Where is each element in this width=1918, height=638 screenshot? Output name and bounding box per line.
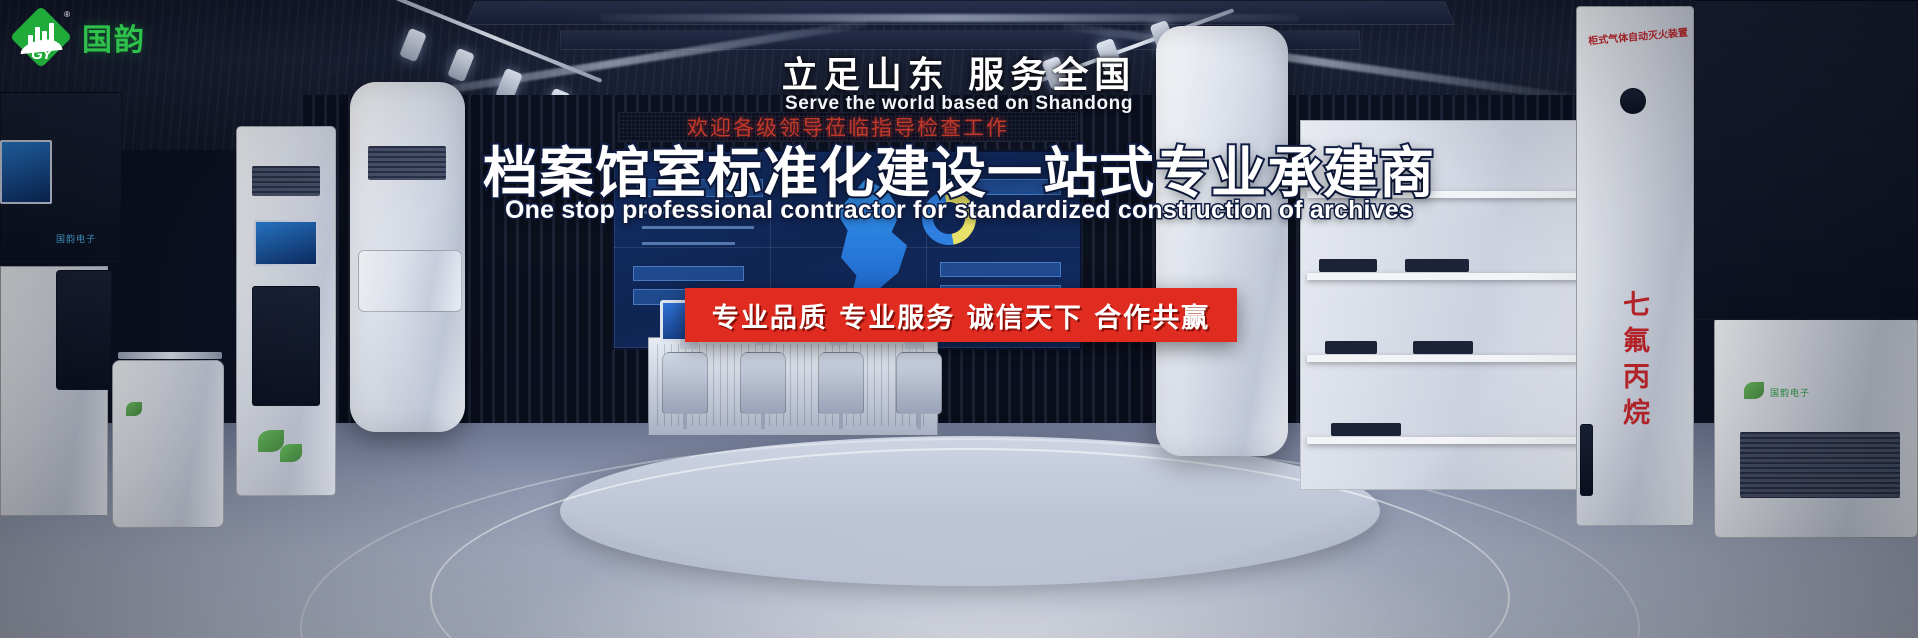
- office-chair: [818, 352, 864, 414]
- left-lower-cabinet: [358, 250, 462, 312]
- mobile-unit: [112, 360, 224, 528]
- tagline-chinese: 立足山东 服务全国: [0, 46, 1918, 98]
- office-chair: [662, 352, 708, 414]
- registered-mark: ®: [64, 10, 70, 19]
- tagline-english: Serve the world based on Shandong: [0, 93, 1918, 115]
- far-right-brand-label: 国韵电子: [1770, 386, 1810, 399]
- fire-cabinet-handle: [1580, 424, 1593, 496]
- office-chair: [896, 352, 942, 414]
- shelf-box: [1331, 423, 1401, 436]
- far-right-vent: [1740, 432, 1900, 498]
- slogan-ribbon-text: 专业品质 专业服务 诚信天下 合作共赢: [712, 296, 1210, 335]
- led-list-row: [642, 242, 735, 245]
- leaf-decal: [280, 444, 302, 462]
- far-left-dark-strip: [56, 270, 112, 390]
- leaf-decal: [126, 402, 142, 416]
- led-card: [940, 262, 1061, 278]
- dehumidifier-grille: [252, 286, 320, 406]
- leaf-decal: [1744, 382, 1764, 399]
- shelf-board: [1307, 273, 1593, 280]
- shelf-box: [1405, 259, 1469, 272]
- shelf-box: [1413, 341, 1473, 354]
- led-list-row: [642, 226, 754, 229]
- shelf-board: [1307, 437, 1593, 444]
- shelf-box: [1325, 341, 1377, 354]
- office-chair: [740, 352, 786, 414]
- device-brand-label: 国韵电子: [56, 232, 96, 245]
- led-card: [633, 266, 745, 282]
- shelf-box: [1319, 259, 1377, 272]
- far-right-dehumidifier: [1714, 316, 1918, 538]
- dehumidifier-screen: [254, 220, 318, 266]
- shelf-board: [1307, 355, 1593, 362]
- fire-cabinet-vertical-label: 七氟丙烷: [1614, 290, 1653, 434]
- page-subtitle: One stop professional contractor for sta…: [0, 196, 1918, 225]
- mobile-unit-handle: [118, 352, 222, 359]
- hero-banner: 欢迎各级领导莅临指导检查工作: [0, 0, 1918, 638]
- slogan-ribbon: 专业品质 专业服务 诚信天下 合作共赢: [685, 288, 1237, 342]
